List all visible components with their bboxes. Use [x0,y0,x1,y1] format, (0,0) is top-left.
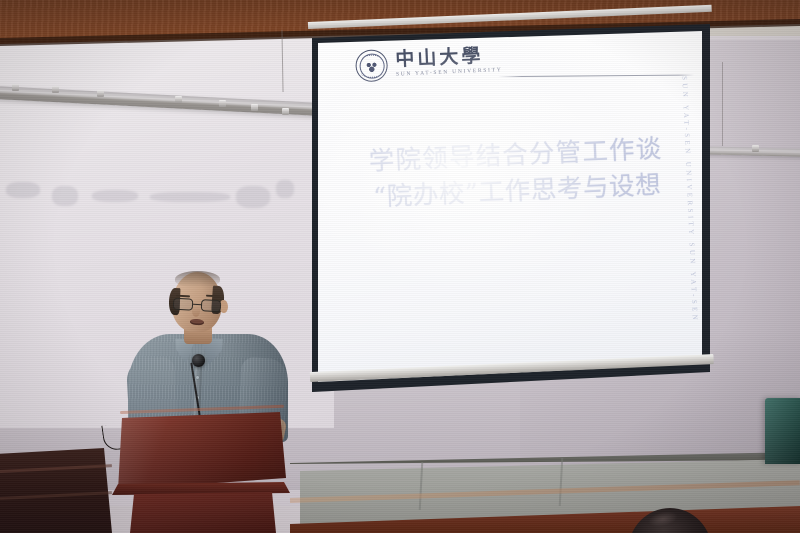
whiteboard-smudge [276,180,294,198]
lectern-sheen [118,412,286,490]
side-desk [0,448,116,533]
university-seal-icon [355,49,388,82]
presenter-hair-top [175,271,220,287]
whiteboard-smudge [6,182,40,198]
screen-hanger-wire [722,62,723,146]
slide-logo: 中山大學 SUN YAT-SEN UNIVERSITY [355,44,503,82]
lectern-column [130,492,276,533]
whiteboard-smudge [52,186,78,206]
slide-divider-rule [498,74,694,77]
microphone-icon [192,354,205,367]
eyeglass-lens-right [201,299,222,312]
presentation-slide[interactable]: 中山大學 SUN YAT-SEN UNIVERSITY 学院领导结合分管工作谈 … [318,13,717,381]
rail-clip-icon [282,108,289,115]
rail-clip-icon [175,96,182,103]
shirt-button-icon [196,376,199,379]
seal-emblem-icon [364,60,379,73]
seal-arc-bottom [361,72,383,78]
lecture-hall-scene: 中山大學 SUN YAT-SEN UNIVERSITY 学院领导结合分管工作谈 … [0,0,800,533]
eyeglass-lens-left [173,298,194,311]
presenter-nose [192,306,200,317]
rail-clip-icon [12,84,19,91]
logo-text-block: 中山大學 SUN YAT-SEN UNIVERSITY [395,46,503,78]
rail-clip-icon [219,100,226,107]
whiteboard-smudge [92,190,138,202]
slide-title: 学院领导结合分管工作谈 “院办校”工作思考与设想 [323,129,710,218]
seal-arc-top [361,54,381,60]
rail-clip-icon [752,145,759,152]
rail-clip-icon [97,90,104,97]
whiteboard-smudge [236,186,270,208]
logo-name-cn: 中山大學 [395,46,502,70]
whiteboard-smudge [150,192,230,202]
cabinet-highlight [765,398,800,464]
rail-clip-icon [251,104,258,111]
rail-clip-icon [52,86,59,93]
